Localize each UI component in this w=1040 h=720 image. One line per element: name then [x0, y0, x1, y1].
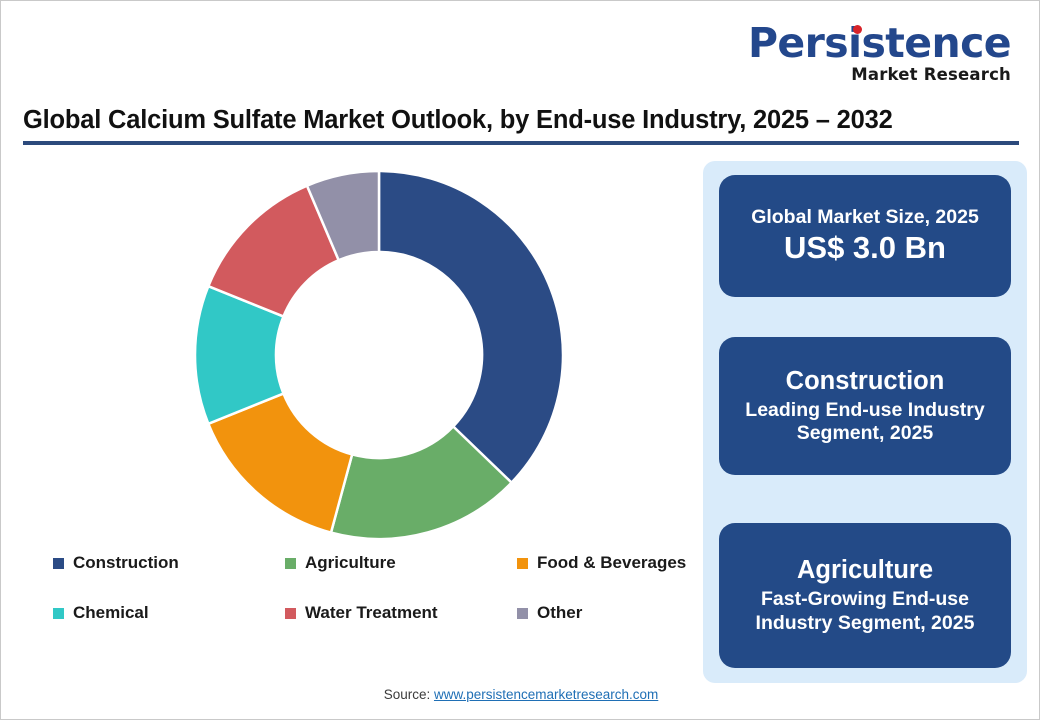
legend-item-label: Agriculture	[305, 553, 396, 573]
legend-item-label: Other	[537, 603, 582, 623]
chart-area	[19, 159, 689, 559]
source-link[interactable]: www.persistencemarketresearch.com	[434, 687, 658, 702]
legend-item-label: Water Treatment	[305, 603, 438, 623]
legend-item-label: Chemical	[73, 603, 149, 623]
brand-logo: Persistence Market Research	[748, 23, 1011, 84]
donut-chart	[189, 165, 569, 545]
brand-name-sub: Market Research	[748, 67, 1011, 84]
chart-legend: ConstructionAgricultureFood & BeveragesC…	[53, 553, 701, 623]
brand-accent-dot-icon	[853, 25, 862, 34]
source-note: Source: www.persistencemarketresearch.co…	[1, 687, 1040, 702]
legend-swatch-icon	[53, 558, 64, 569]
legend-swatch-icon	[53, 608, 64, 619]
legend-item-water-treatment[interactable]: Water Treatment	[285, 603, 517, 623]
legend-item-food-beverages[interactable]: Food & Beverages	[517, 553, 701, 573]
title-underline-rule	[23, 141, 1019, 145]
card-fastest-segment-desc-line1: Fast-Growing End-use	[761, 588, 969, 612]
brand-name-main: Persistence	[748, 23, 1011, 64]
brand-name-main-text: Persistence	[748, 19, 1011, 67]
legend-item-chemical[interactable]: Chemical	[53, 603, 285, 623]
legend-item-label: Food & Beverages	[537, 553, 686, 573]
card-market-size: Global Market Size, 2025 US$ 3.0 Bn	[719, 175, 1011, 297]
card-leading-segment-name: Construction	[786, 366, 945, 397]
legend-item-label: Construction	[73, 553, 179, 573]
legend-item-agriculture[interactable]: Agriculture	[285, 553, 517, 573]
card-fastest-segment-name: Agriculture	[797, 555, 933, 586]
donut-slice-group	[195, 171, 563, 539]
highlights-panel: Global Market Size, 2025 US$ 3.0 Bn Cons…	[703, 161, 1027, 683]
card-leading-segment: Construction Leading End-use Industry Se…	[719, 337, 1011, 475]
page-title: Global Calcium Sulfate Market Outlook, b…	[23, 106, 1019, 135]
legend-swatch-icon	[285, 558, 296, 569]
card-leading-segment-desc-line1: Leading End-use Industry	[745, 399, 984, 423]
legend-item-other[interactable]: Other	[517, 603, 701, 623]
card-market-size-value: US$ 3.0 Bn	[784, 230, 946, 267]
infographic-page: Persistence Market Research Global Calci…	[0, 0, 1040, 720]
card-market-size-label: Global Market Size, 2025	[751, 206, 979, 230]
legend-swatch-icon	[517, 558, 528, 569]
donut-slice-construction[interactable]	[379, 171, 563, 483]
card-leading-segment-desc-line2: Segment, 2025	[797, 422, 934, 446]
title-block: Global Calcium Sulfate Market Outlook, b…	[23, 106, 1019, 145]
card-fastest-segment-desc-line2: Industry Segment, 2025	[756, 612, 975, 636]
legend-swatch-icon	[285, 608, 296, 619]
legend-swatch-icon	[517, 608, 528, 619]
card-fastest-segment: Agriculture Fast-Growing End-use Industr…	[719, 523, 1011, 668]
legend-item-construction[interactable]: Construction	[53, 553, 285, 573]
source-prefix: Source:	[384, 687, 434, 702]
